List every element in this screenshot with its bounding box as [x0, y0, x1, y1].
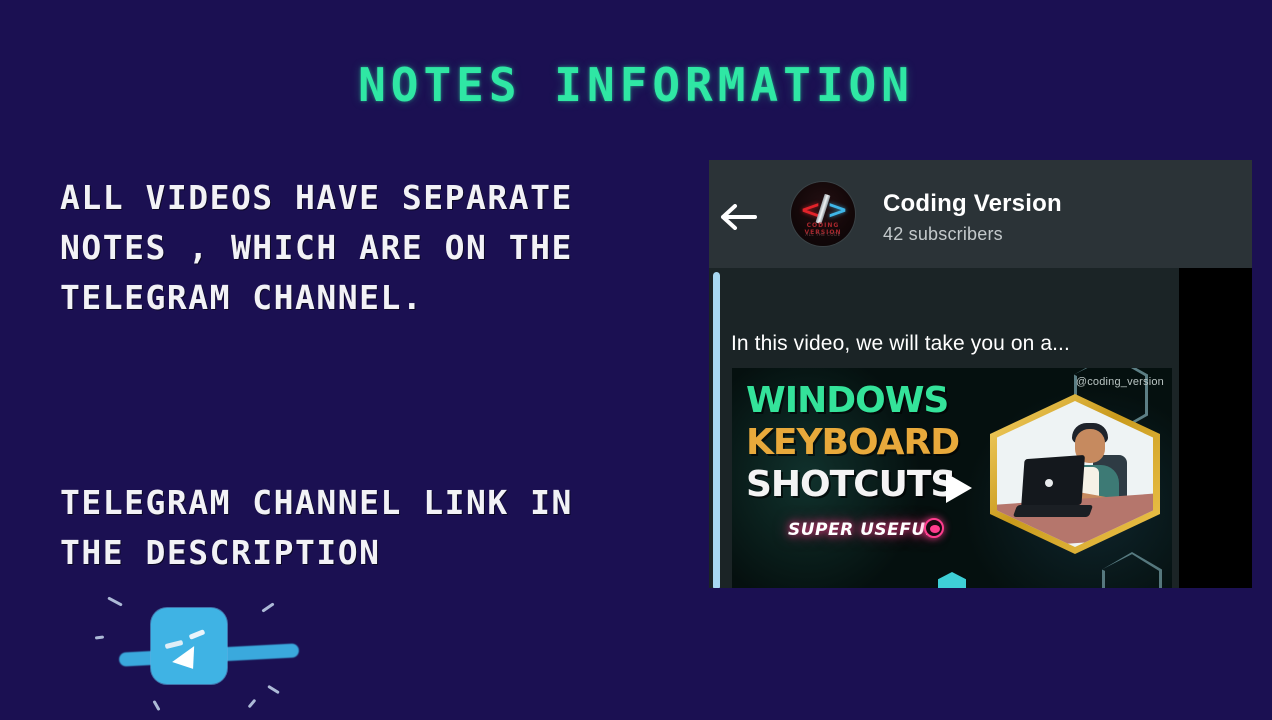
page-title: NOTES INFORMATION — [0, 58, 1272, 112]
spark-1 — [107, 596, 123, 606]
spark-2 — [95, 635, 104, 639]
avatar-brand-tagline: ALL THE CODE — [791, 232, 855, 237]
super-useful-icon — [924, 518, 944, 538]
channel-name[interactable]: Coding Version — [883, 190, 1062, 218]
super-useful-badge: SUPER USEFUL — [788, 520, 937, 540]
video-thumbnail[interactable]: @coding_version WINDOWS KEYBOARD SHOTCUT… — [732, 368, 1172, 588]
illustration-laptop-screen — [1021, 455, 1085, 509]
spark-4 — [267, 685, 280, 694]
back-arrow-icon[interactable] — [719, 204, 757, 230]
thumbnail-line-3: SHOTCUTS — [746, 464, 955, 505]
subscriber-count: 42 subscribers — [883, 224, 1003, 245]
video-description: In this video, we will take you on a... — [731, 332, 1070, 356]
illustration-laptop-base — [1013, 505, 1093, 517]
illustration-laptop-logo — [1045, 479, 1053, 487]
play-button-icon[interactable] — [946, 473, 972, 503]
slide-canvas: NOTES INFORMATION ALL VIDEOS HAVE SEPARA… — [0, 0, 1272, 720]
telegram-icon — [95, 592, 315, 720]
youtube-channel-panel: < > CODING VERSION ALL THE CODE Coding V… — [709, 160, 1252, 588]
thumbnail-line-2: KEYBOARD — [746, 422, 959, 463]
vertical-scrollbar[interactable] — [713, 272, 720, 588]
thumbnail-line-1: WINDOWS — [746, 380, 948, 421]
channel-avatar[interactable]: < > CODING VERSION ALL THE CODE — [791, 182, 855, 246]
spark-5 — [152, 700, 160, 711]
telegram-link-paragraph: TELEGRAM CHANNEL LINK IN THE DESCRIPTION — [60, 478, 680, 578]
right-black-strip — [1179, 268, 1252, 588]
telegram-paper-plane — [169, 636, 203, 666]
spark-3 — [261, 602, 274, 612]
avatar-gt-bracket: > — [827, 197, 848, 222]
channel-watermark: @coding_version — [1076, 376, 1164, 388]
notes-paragraph: ALL VIDEOS HAVE SEPARATE NOTES , WHICH A… — [60, 173, 680, 323]
person-at-laptop-hexagon — [990, 394, 1160, 554]
spark-6 — [248, 699, 257, 709]
channel-header: < > CODING VERSION ALL THE CODE Coding V… — [709, 160, 1252, 268]
